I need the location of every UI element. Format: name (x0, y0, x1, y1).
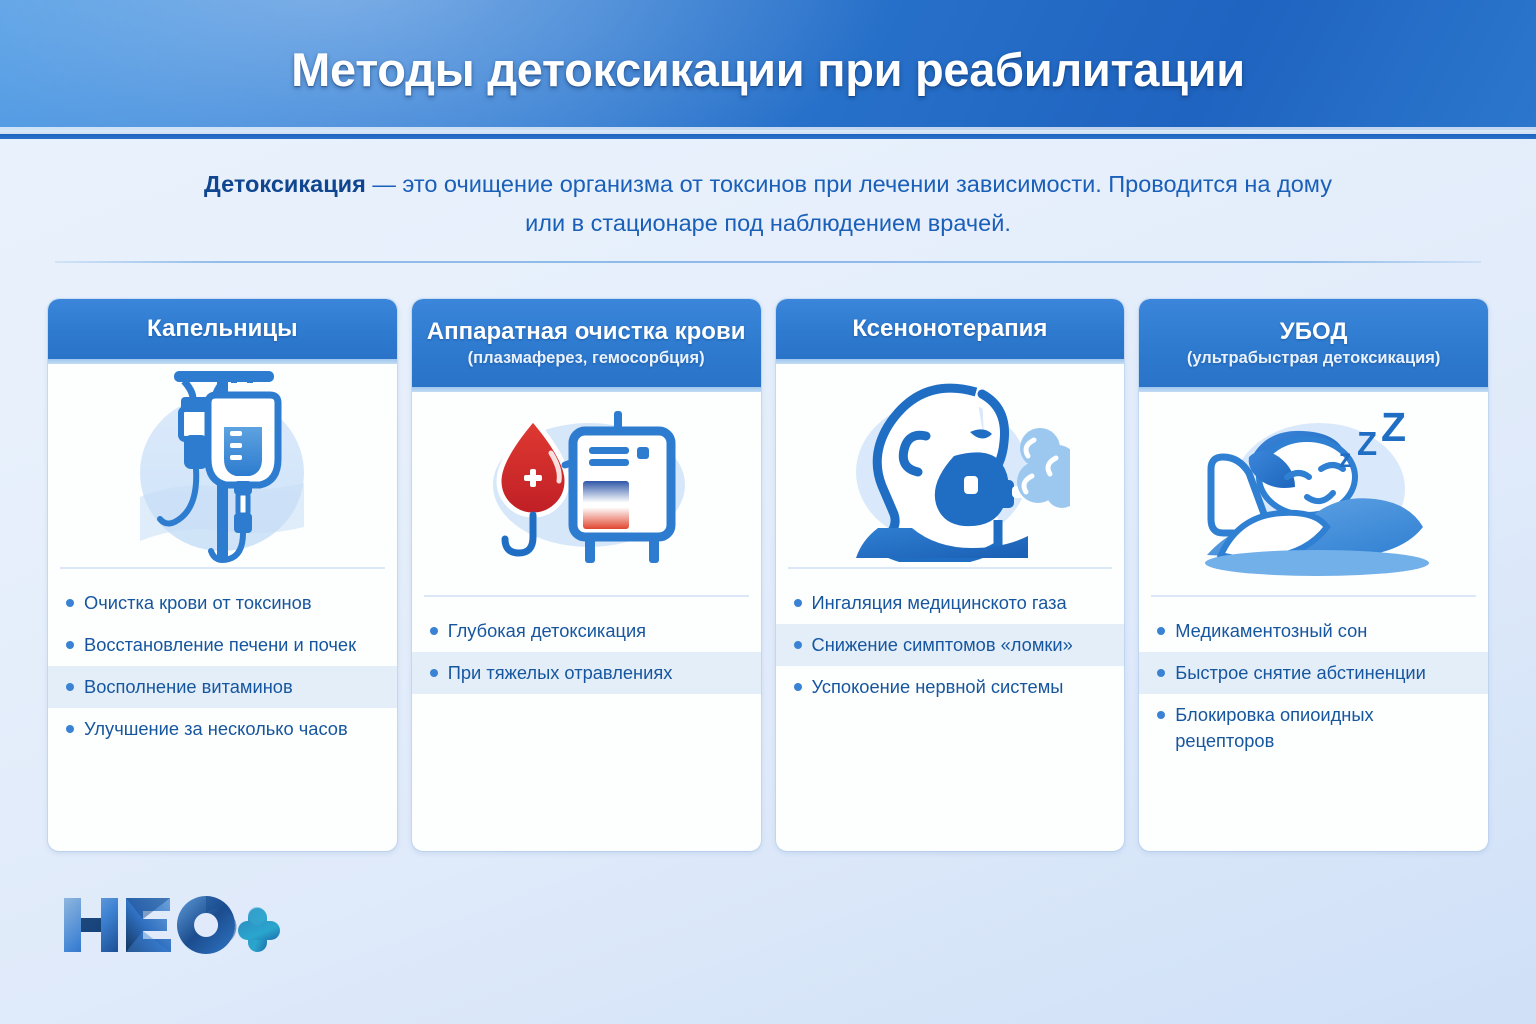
list-item: Медикаментозный сон (1139, 610, 1488, 652)
method-cards-row: Капельницы (48, 299, 1488, 851)
benefit-list: Очистка крови от токсинов Восстановление… (48, 569, 397, 851)
list-item-label: Очистка крови от токсинов (84, 590, 312, 616)
list-item: Глубокая детоксикация (412, 610, 761, 652)
card-title: Ксенонотерапия (786, 316, 1115, 342)
bullet-dot-icon (1157, 669, 1165, 677)
card-ksenonoterapiya[interactable]: Ксенонотерапия (776, 299, 1125, 851)
list-item-label: При тяжелых отравлениях (448, 660, 673, 686)
bullet-dot-icon (66, 725, 74, 733)
iv-drip-icon (48, 359, 397, 567)
sleeping-patient-icon: z Z Z (1139, 387, 1488, 595)
brand-logo[interactable]: НЕО+ (58, 890, 295, 960)
svg-text:Z: Z (1381, 405, 1406, 450)
list-item: При тяжелых отравлениях (412, 652, 761, 694)
list-item-label: Быстрое снятие абстиненции (1175, 660, 1426, 686)
header-banner: Методы детоксикации при реабилитации (0, 0, 1536, 139)
bullet-dot-icon (794, 683, 802, 691)
card-ubod[interactable]: УБОД (ультрабыстрая детоксикация) (1139, 299, 1488, 851)
inhalation-mask-icon (776, 359, 1125, 567)
bullet-dot-icon (430, 669, 438, 677)
list-item: Успокоение нервной системы (776, 666, 1125, 708)
list-item: Блокировка опиоидных рецепторов (1139, 694, 1488, 762)
card-header: Ксенонотерапия (776, 299, 1125, 359)
list-item: Очистка крови от токсинов (48, 582, 397, 624)
list-item-label: Восполнение витаминов (84, 674, 293, 700)
card-kapelnitsy[interactable]: Капельницы (48, 299, 397, 851)
bullet-dot-icon (794, 641, 802, 649)
bullet-dot-icon (1157, 627, 1165, 635)
list-item-label: Ингаляция медицинското газа (812, 590, 1067, 616)
bullet-dot-icon (66, 683, 74, 691)
svg-text:z: z (1339, 445, 1352, 473)
list-item-label: Улучшение за несколько часов (84, 716, 348, 742)
section-divider (55, 261, 1481, 263)
list-item-label: Медикаментозный сон (1175, 618, 1367, 644)
card-title: Капельницы (58, 316, 387, 342)
intro-paragraph: Детоксикация — это очищение организма от… (190, 165, 1346, 243)
card-title: УБОД (1149, 319, 1478, 345)
list-item-label: Снижение симптомов «ломки» (812, 632, 1073, 658)
card-header: УБОД (ультрабыстрая детоксикация) (1139, 299, 1488, 387)
list-item: Ингаляция медицинското газа (776, 582, 1125, 624)
list-item-label: Блокировка опиоидных рецепторов (1175, 702, 1472, 754)
bullet-dot-icon (66, 641, 74, 649)
list-item: Восполнение витаминов (48, 666, 397, 708)
benefit-list: Глубокая детоксикация При тяжелых отравл… (412, 597, 761, 851)
bullet-dot-icon (1157, 711, 1165, 719)
intro-body-text: — это очищение организма от токсинов при… (366, 171, 1332, 236)
card-header: Капельницы (48, 299, 397, 359)
svg-text:Z: Z (1357, 425, 1377, 462)
benefit-list: Ингаляция медицинското газа Снижение сим… (776, 569, 1125, 851)
card-apparatnaya-ochistka-krovi[interactable]: Аппаратная очистка крови (плазмаферез, г… (412, 299, 761, 851)
card-subtitle: (плазмаферез, гемосорбция) (422, 349, 751, 368)
list-item: Снижение симптомов «ломки» (776, 624, 1125, 666)
list-item: Быстрое снятие абстиненции (1139, 652, 1488, 694)
blood-purification-machine-icon (412, 387, 761, 595)
banner-underline (0, 127, 1536, 130)
list-item: Улучшение за несколько часов (48, 708, 397, 750)
bullet-dot-icon (430, 627, 438, 635)
bullet-dot-icon (794, 599, 802, 607)
list-item-label: Успокоение нервной системы (812, 674, 1064, 700)
list-item-label: Восстановление печени и почек (84, 632, 356, 658)
benefit-list: Медикаментозный сон Быстрое снятие абсти… (1139, 597, 1488, 851)
card-header: Аппаратная очистка крови (плазмаферез, г… (412, 299, 761, 387)
page-title: Методы детоксикации при реабилитации (0, 42, 1536, 97)
list-item: Восстановление печени и почек (48, 624, 397, 666)
card-title: Аппаратная очистка крови (422, 319, 751, 345)
intro-lead-term: Детоксикация (204, 171, 366, 197)
neo-plus-logo-icon (58, 890, 293, 960)
card-subtitle: (ультрабыстрая детоксикация) (1149, 349, 1478, 368)
list-item-label: Глубокая детоксикация (448, 618, 646, 644)
bullet-dot-icon (66, 599, 74, 607)
